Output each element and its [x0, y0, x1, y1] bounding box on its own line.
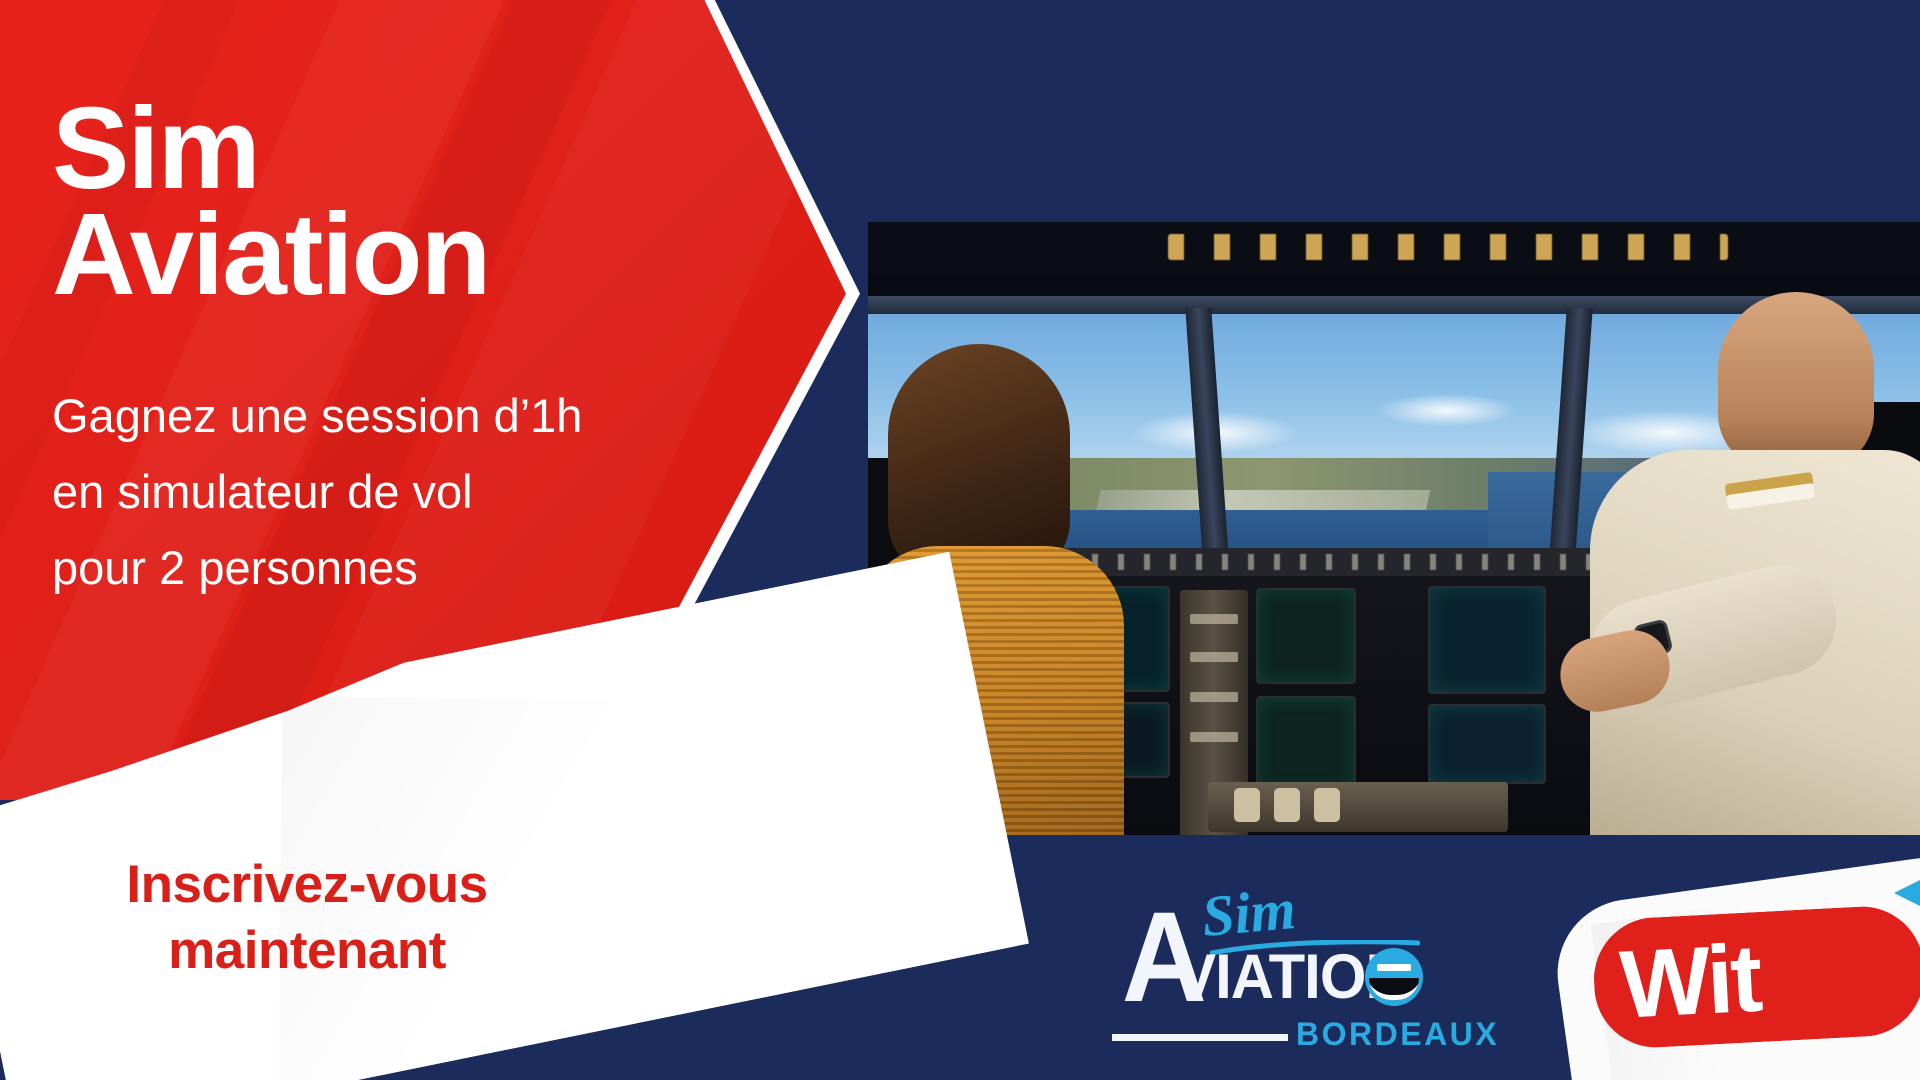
throttle-lever	[1274, 788, 1300, 822]
cta-text[interactable]: Inscrivez-vous maintenant	[72, 852, 542, 984]
wit-logo-text: Wit	[1617, 912, 1920, 1044]
throttle-lever	[1314, 788, 1340, 822]
plane-window-icon	[1365, 948, 1423, 1006]
cockpit-photo: ONUX	[868, 222, 1920, 835]
primary-flight-display	[1428, 586, 1546, 694]
subtitle-line-3: pour 2 personnes	[52, 530, 672, 606]
subtitle-line-2: en simulateur de vol	[52, 454, 672, 530]
sim-aviation-logo[interactable]: A Sim VIATION BORDEAUX	[1118, 888, 1448, 1064]
pedestal-button	[1190, 652, 1238, 662]
pedestal-button	[1190, 732, 1238, 742]
headline-line-1: Sim	[52, 95, 692, 201]
pilot-right	[1574, 282, 1920, 835]
pilot-head	[1718, 292, 1874, 470]
logo-rule	[1112, 1034, 1288, 1041]
logo-location: BORDEAUX	[1296, 1018, 1499, 1050]
banner-canvas: ONUX	[0, 0, 1920, 1080]
subtitle: Gagnez une session d’1h en simulateur de…	[52, 378, 672, 606]
cta-line-1: Inscrivez-vous	[72, 852, 542, 918]
cockpit-photo-scene: ONUX	[868, 222, 1920, 835]
headline-line-2: Aviation	[52, 201, 692, 307]
throttle-lever	[1234, 788, 1260, 822]
subtitle-line-1: Gagnez une session d’1h	[52, 378, 672, 454]
overhead-lights	[1168, 234, 1728, 260]
passenger-left-hair	[888, 344, 1070, 580]
ecam-upper-display	[1256, 588, 1356, 684]
pedestal-button	[1190, 614, 1238, 624]
cta-line-2: maintenant	[72, 918, 542, 984]
logo-script-sim: Sim	[1200, 880, 1298, 946]
pedestal-button	[1190, 692, 1238, 702]
secondary-display	[1428, 704, 1546, 784]
ecam-lower-display	[1256, 696, 1356, 792]
page-title: Sim Aviation	[52, 95, 692, 307]
